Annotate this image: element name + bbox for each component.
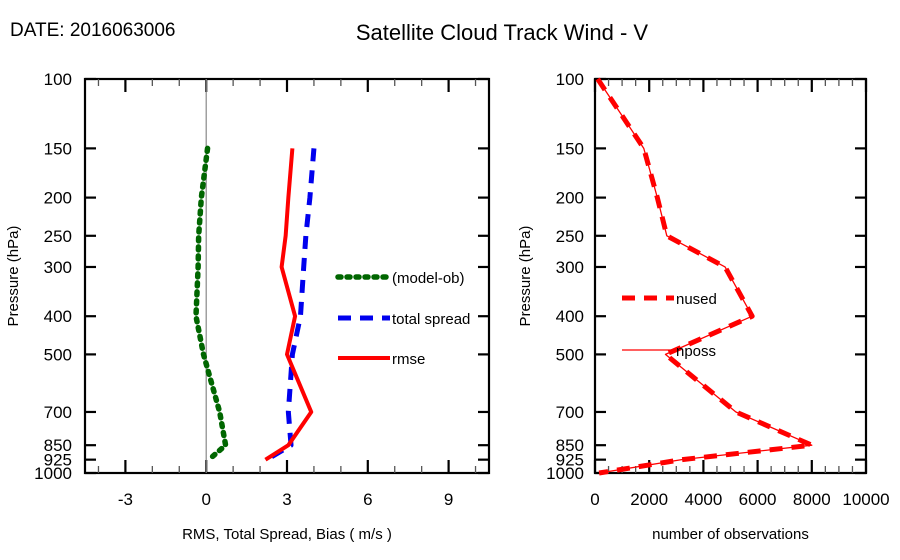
left-legend-label-total spread: total spread <box>392 311 470 328</box>
profile-plot-figure: DATE: 2016063006Satellite Cloud Track Wi… <box>0 0 900 560</box>
left-ytick-label: 150 <box>44 139 72 158</box>
left-legend-label-(model-ob): (model-ob) <box>392 270 465 287</box>
left-ytick-label: 1000 <box>34 464 72 483</box>
right-series-nused <box>598 79 812 473</box>
right-xtick-label: 10000 <box>842 490 889 509</box>
left-legend-label-rmse: rmse <box>392 351 425 368</box>
right-legend-label-nused: nused <box>676 291 717 308</box>
left-yaxis-label: Pressure (hPa) <box>5 226 22 327</box>
right-xtick-label: 0 <box>590 490 599 509</box>
date-label: DATE: 2016063006 <box>10 20 176 41</box>
left-ytick-label: 500 <box>44 345 72 364</box>
right-ytick-label: 300 <box>556 258 584 277</box>
right-ytick-label: 100 <box>556 70 584 89</box>
right-ytick-label: 700 <box>556 403 584 422</box>
left-ytick-label: 700 <box>44 403 72 422</box>
left-xtick-label: 9 <box>444 490 453 509</box>
right-ytick-label: 500 <box>556 345 584 364</box>
left-xtick-label: 6 <box>363 490 372 509</box>
left-xtick-label: -3 <box>118 490 133 509</box>
right-xaxis-label: number of observations <box>652 526 809 543</box>
right-xtick-label: 8000 <box>793 490 831 509</box>
left-series-(model-ob) <box>196 148 226 459</box>
right-ytick-label: 200 <box>556 189 584 208</box>
right-legend-label-nposs: nposs <box>676 343 716 360</box>
right-yaxis-label: Pressure (hPa) <box>517 226 534 327</box>
left-ytick-label: 100 <box>44 70 72 89</box>
right-ytick-label: 250 <box>556 227 584 246</box>
right-xtick-label: 6000 <box>739 490 777 509</box>
left-xtick-label: 3 <box>282 490 291 509</box>
right-ytick-label: 1000 <box>546 464 584 483</box>
chart-title: Satellite Cloud Track Wind - V <box>356 20 649 45</box>
right-xtick-label: 4000 <box>684 490 722 509</box>
right-xtick-label: 2000 <box>630 490 668 509</box>
left-ytick-label: 300 <box>44 258 72 277</box>
chart-page: DATE: 2016063006Satellite Cloud Track Wi… <box>0 0 900 560</box>
right-ytick-label: 150 <box>556 139 584 158</box>
left-xtick-label: 0 <box>201 490 210 509</box>
left-ytick-label: 400 <box>44 307 72 326</box>
right-series-nposs <box>598 79 812 473</box>
left-xaxis-label: RMS, Total Spread, Bias ( m/s ) <box>182 526 392 543</box>
left-ytick-label: 250 <box>44 227 72 246</box>
left-ytick-label: 200 <box>44 189 72 208</box>
right-ytick-label: 400 <box>556 307 584 326</box>
